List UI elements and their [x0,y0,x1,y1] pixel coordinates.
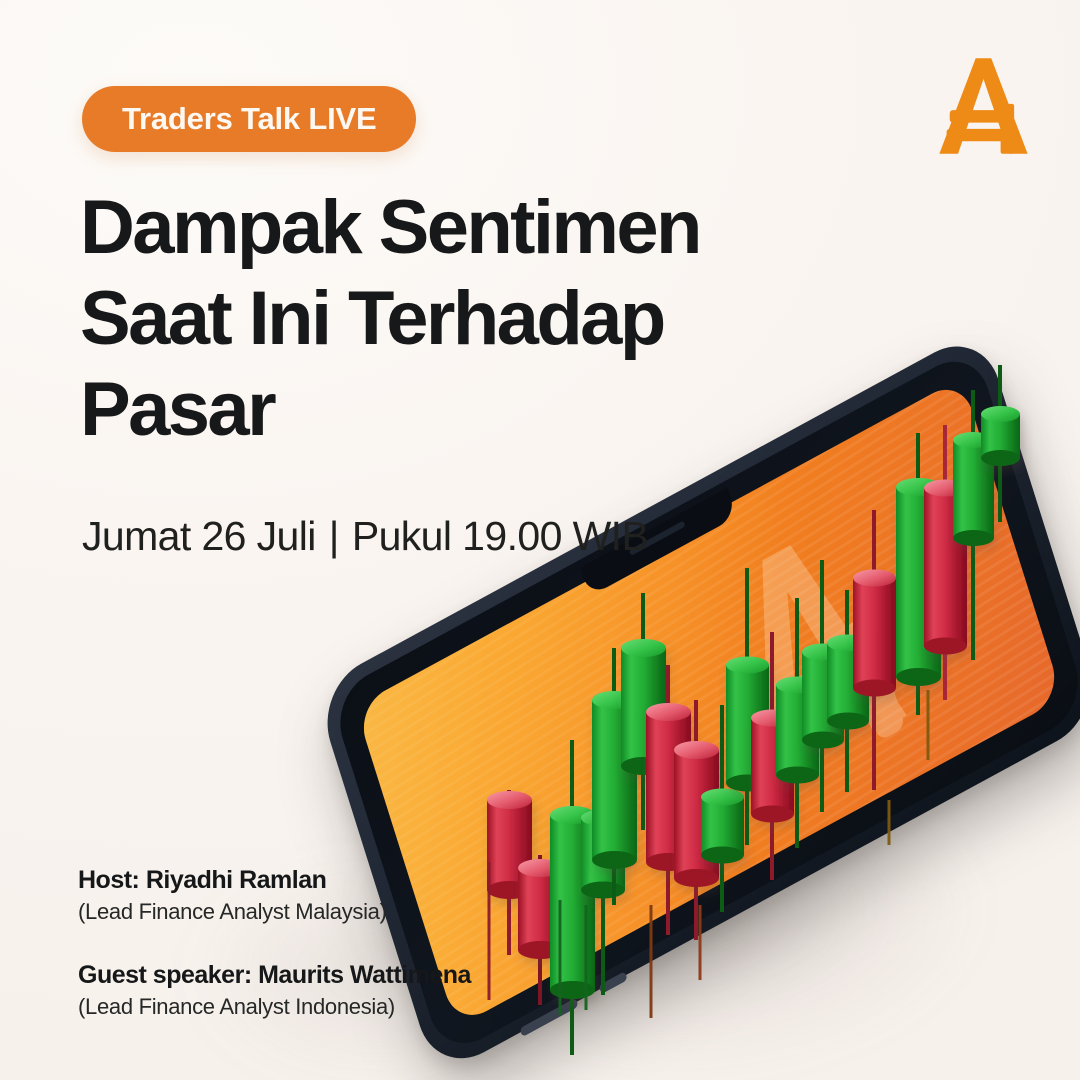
schedule-line: Jumat 26 Juli|Pukul 19.00 WIB [82,513,648,560]
host-name: Host: Riyadhi Ramlan [78,866,548,895]
a-mark-logo-icon [932,52,1036,160]
schedule-separator: | [329,513,339,560]
poster-canvas: Traders Talk LIVE Dampak Sentimen Saat I… [0,0,1080,1080]
speakers-block: Host: Riyadhi Ramlan (Lead Finance Analy… [78,866,548,1055]
headline-line-3: Pasar [80,374,820,447]
schedule-date: Jumat 26 Juli [82,513,316,559]
guest-name: Guest speaker: Maurits Wattimena [78,961,548,990]
guest-role: (Lead Finance Analyst Indonesia) [78,993,548,1022]
guest-entry: Guest speaker: Maurits Wattimena (Lead F… [78,961,548,1022]
live-badge[interactable]: Traders Talk LIVE [82,86,416,152]
host-role: (Lead Finance Analyst Malaysia) [78,898,548,927]
page-title: Dampak Sentimen Saat Ini Terhadap Pasar [80,192,820,465]
headline-line-1: Dampak Sentimen [80,192,820,265]
schedule-time: Pukul 19.00 WIB [352,513,648,559]
headline-line-2: Saat Ini Terhadap [80,283,820,356]
live-badge-label: Traders Talk LIVE [122,101,376,137]
host-entry: Host: Riyadhi Ramlan (Lead Finance Analy… [78,866,548,927]
phone-power-button [599,971,628,994]
